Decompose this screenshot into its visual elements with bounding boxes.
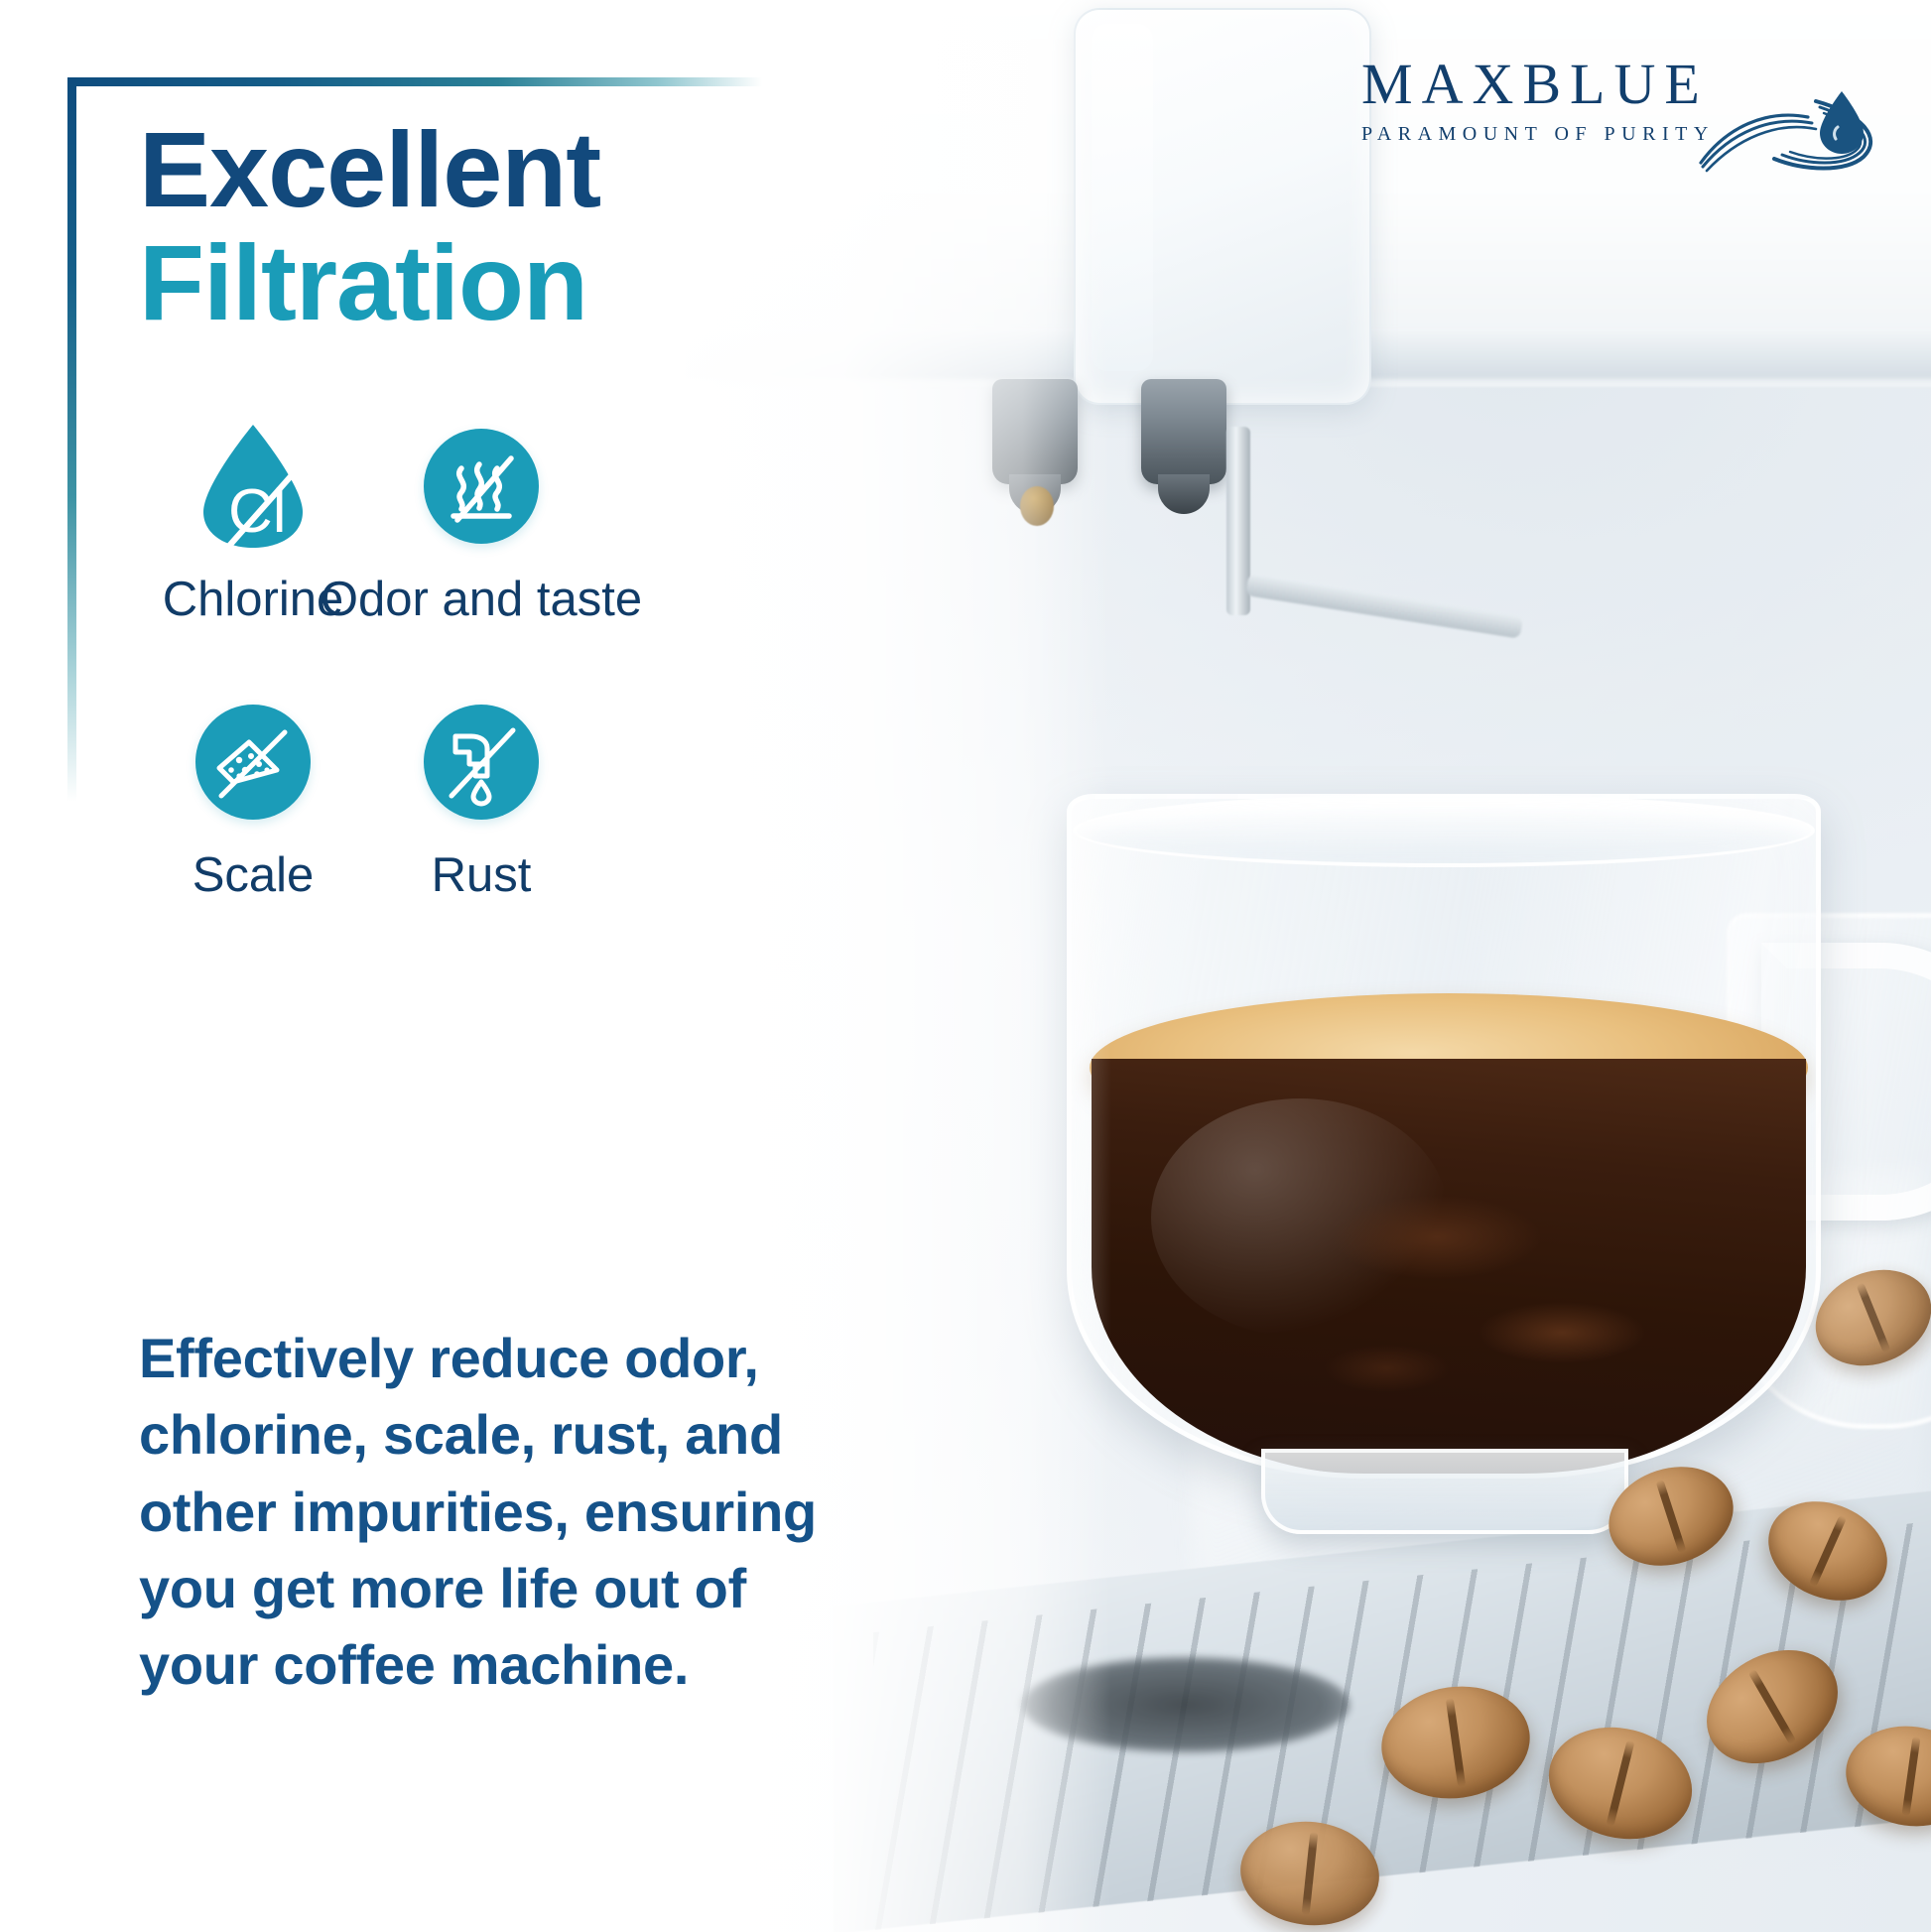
feature-item-scale: Scale: [139, 705, 367, 980]
feature-item-chlorine: Cl Chlorine: [139, 429, 367, 705]
scale-deposit-icon: [195, 705, 311, 820]
infographic-canvas: MAXBLUE PARAMOUNT OF PURITY Excellent Fi…: [0, 0, 1931, 1932]
feature-grid: Cl Chlorine Odor and taste: [139, 429, 834, 980]
chlorine-droplet-icon: Cl: [195, 429, 311, 544]
corner-frame-horizontal-rule: [67, 77, 762, 86]
rust-faucet-drop-icon: [424, 705, 539, 820]
feature-item-rust: Rust: [367, 705, 595, 980]
body-line: chlorine, scale, rust, and: [139, 1396, 873, 1473]
steam-wand-arm: [1245, 574, 1523, 639]
brew-nozzle-right: [1141, 379, 1226, 484]
feature-label: Rust: [432, 847, 532, 903]
headline-line-2: Filtration: [139, 228, 893, 337]
espresso-liquid: [1092, 1059, 1806, 1476]
body-line: you get more life out of: [139, 1550, 873, 1626]
brand-logo: MAXBLUE PARAMOUNT OF PURITY: [1361, 56, 1877, 171]
coffee-machine-brew-unit: [1074, 8, 1371, 405]
page-title: Excellent Filtration: [139, 117, 893, 337]
corner-frame-vertical-rule: [67, 77, 76, 802]
cup-glass-body: [1067, 794, 1821, 1479]
body-line: other impurities, ensuring: [139, 1474, 873, 1550]
body-paragraph: Effectively reduce odor, chlorine, scale…: [139, 1320, 873, 1703]
body-line: Effectively reduce odor,: [139, 1320, 873, 1396]
water-droplet-swoosh-icon: [1697, 83, 1885, 175]
cup-foot: [1261, 1449, 1628, 1534]
cup-rim: [1073, 794, 1815, 867]
body-line: your coffee machine.: [139, 1626, 873, 1703]
feature-label: Chlorine: [163, 572, 343, 627]
espresso-cup: [1067, 794, 1821, 1548]
feature-label: Scale: [193, 847, 315, 903]
headline-line-1: Excellent: [139, 117, 893, 222]
feature-label: Odor and taste: [321, 572, 642, 627]
odor-steam-icon: [424, 429, 539, 544]
feature-item-odor-and-taste: Odor and taste: [367, 429, 595, 705]
